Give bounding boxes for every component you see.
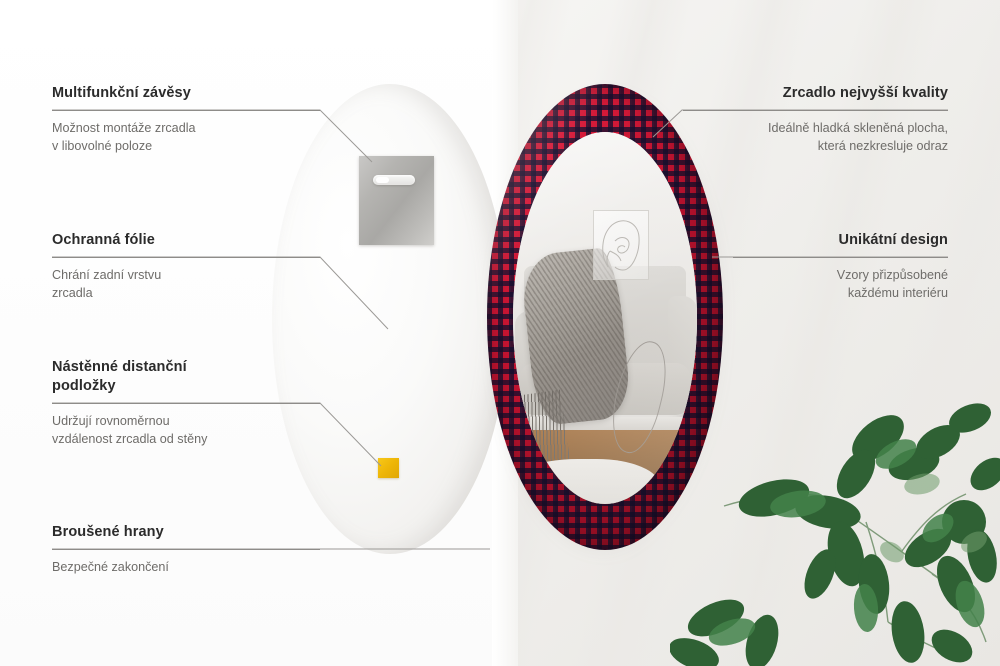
callout-nastenne-distancni-podlozky: Nástěnné distanční podložky Udržují rovn… — [52, 358, 320, 448]
infographic-stage: Multifunkční závěsy Možnost montáže zrca… — [0, 0, 1000, 666]
callout-ochranna-folie: Ochranná fólie Chrání zadní vrstvu zrcad… — [52, 231, 320, 303]
callout-unikatni-design: Unikátní design Vzory přizpůsobené každé… — [733, 231, 948, 303]
callout-desc: Bezpečné zakončení — [52, 559, 320, 577]
callout-rule — [52, 110, 320, 111]
mirror-glass — [513, 132, 697, 504]
callout-rule — [52, 549, 320, 550]
callout-zrcadlo-nejvyssi-kvality: Zrcadlo nejvyšší kvality Ideálně hladká … — [683, 84, 948, 156]
callout-title: Zrcadlo nejvyšší kvality — [683, 84, 948, 103]
callout-rule — [52, 403, 320, 404]
bracket-keyhole-slot — [373, 175, 415, 185]
wall-spacer-pad — [378, 458, 399, 478]
callout-multifunkcni-zavesy: Multifunkční závěsy Možnost montáže zrca… — [52, 84, 320, 156]
callout-desc: Chrání zadní vrstvu zrcadla — [52, 267, 320, 303]
callout-title: Unikátní design — [733, 231, 948, 250]
callout-rule — [683, 110, 948, 111]
glass-sheen — [513, 132, 697, 504]
callout-title: Nástěnné distanční podložky — [52, 358, 320, 396]
callout-desc: Ideálně hladká skleněná plocha, která ne… — [683, 120, 948, 156]
callout-desc: Možnost montáže zrcadla v libovolné polo… — [52, 120, 320, 156]
callout-brousene-hrany: Broušené hrany Bezpečné zakončení — [52, 523, 320, 577]
callout-rule — [733, 257, 948, 258]
callout-title: Multifunkční závěsy — [52, 84, 320, 103]
callout-rule — [52, 257, 320, 258]
callout-desc: Udržují rovnoměrnou vzdálenost zrcadla o… — [52, 413, 320, 449]
callout-title: Broušené hrany — [52, 523, 320, 542]
callout-title: Ochranná fólie — [52, 231, 320, 250]
callout-desc: Vzory přizpůsobené každému interiéru — [733, 267, 948, 303]
hanging-bracket — [359, 156, 434, 245]
